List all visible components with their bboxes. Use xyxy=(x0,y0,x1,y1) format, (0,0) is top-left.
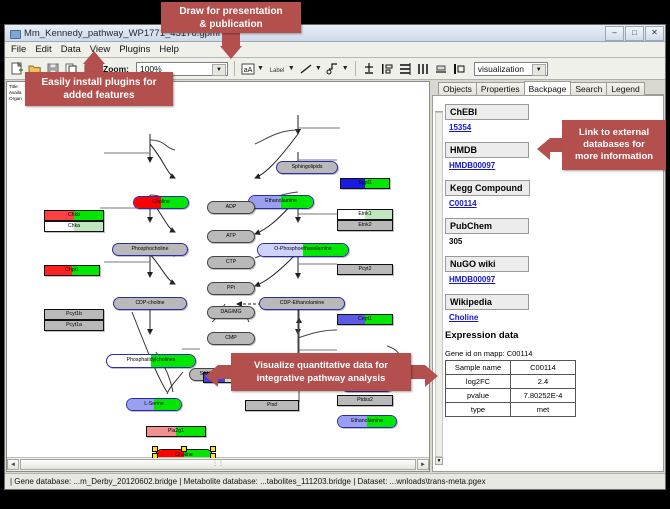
metabolite-node-l-serine[interactable]: L-Serine xyxy=(126,398,182,411)
label-icon[interactable]: Label xyxy=(268,62,286,76)
gene-id-label: Gene id on mapp: C00114 xyxy=(445,349,663,358)
gene-node-pla2g1[interactable]: Pla2g1 xyxy=(146,426,206,437)
db-title: NuGO wiki xyxy=(445,256,529,272)
metabolite-node-o-phosphoethanolamine[interactable]: O-Phosphoethanolamine xyxy=(257,243,349,257)
node-label: Chpt1 xyxy=(65,268,79,273)
node-label: O-Phosphoethanolamine xyxy=(274,247,331,252)
tab-objects[interactable]: Objects xyxy=(438,82,477,95)
row-value: 7.80252E-4 xyxy=(511,389,576,403)
panel-scroll-down-button[interactable]: ▼ xyxy=(435,457,443,465)
expression-data-heading: Expression data xyxy=(445,330,663,341)
callout-line-2: integrative pathway analysis xyxy=(257,372,386,385)
distribute-icon[interactable] xyxy=(398,62,412,76)
node-label: Phosphatidylcholines xyxy=(127,358,176,363)
row-value: C00114 xyxy=(511,361,576,375)
screenshot-root: Mm_Kennedy_pathway_WP1771_45176.gpml – □… xyxy=(0,0,670,509)
tab-properties[interactable]: Properties xyxy=(476,82,525,95)
callout-line-1: Visualize quantitative data for xyxy=(254,359,388,372)
menu-item-edit[interactable]: Edit xyxy=(35,44,51,55)
gene-node-chpt1[interactable]: Chpt1 xyxy=(44,265,100,276)
gene-node-pisd[interactable]: Pisd xyxy=(245,400,299,411)
gene-node-ptdss2[interactable]: Ptdss2 xyxy=(337,395,393,406)
align-left-icon[interactable] xyxy=(380,62,394,76)
tab-filler xyxy=(644,81,664,95)
gene-node-chkb[interactable]: Chkb xyxy=(44,210,104,221)
row-label: pvalue xyxy=(446,389,511,403)
app-icon xyxy=(9,28,20,39)
db-title: Kegg Compound xyxy=(445,180,530,196)
callout-visualize-stem-right xyxy=(411,365,425,379)
metabolite-node-ethanolamine[interactable]: Ethanolamine xyxy=(337,415,397,428)
node-label: Sgpl1 xyxy=(358,181,371,186)
row-label: Sample name xyxy=(446,361,511,375)
scroll-left-button[interactable]: ◄ xyxy=(7,459,19,470)
metabolite-node[interactable]: Phosphocholine xyxy=(112,243,188,256)
node-label: CDP-Ethanolamine xyxy=(280,301,324,306)
group-icon[interactable] xyxy=(434,62,448,76)
align-icon[interactable] xyxy=(362,62,376,76)
window-controls: – □ ✕ xyxy=(605,26,665,41)
metabolite-node-choline[interactable]: Choline xyxy=(133,196,189,209)
node-label: Ethanolamine xyxy=(351,419,383,424)
svg-text:aA: aA xyxy=(244,67,253,74)
title-bar: Mm_Kennedy_pathway_WP1771_45176.gpml – □… xyxy=(5,25,665,42)
node-label: Ethanolamine xyxy=(265,199,297,204)
node-label: Pcyt1a xyxy=(66,323,82,328)
tab-search[interactable]: Search xyxy=(570,82,607,95)
row-value: 2.4 xyxy=(511,375,576,389)
node-label: Pla2g1 xyxy=(168,429,184,434)
db-value: 305 xyxy=(449,237,663,246)
scroll-right-button[interactable]: ► xyxy=(417,459,429,470)
resize-handle[interactable] xyxy=(210,453,216,458)
callout-line-2: & publication xyxy=(199,18,262,31)
tab-legend[interactable]: Legend xyxy=(606,82,644,95)
node-label: CMP xyxy=(225,336,237,341)
gene-node-sgpl1[interactable]: Sgpl1 xyxy=(340,178,390,189)
callout-line-2: added features xyxy=(63,89,134,102)
callout-visualize-arrow-right-icon xyxy=(425,365,438,387)
chevron-down-icon[interactable]: ▼ xyxy=(288,65,295,72)
db-link[interactable]: Choline xyxy=(449,313,663,322)
node-label: Phosphocholine xyxy=(132,247,169,252)
visualization-value: visualization xyxy=(478,64,524,74)
label-text: Label xyxy=(270,68,285,74)
menu-item-plugins[interactable]: Plugins xyxy=(119,44,150,55)
node-label: Pcyt2 xyxy=(359,267,372,272)
table-row: type met xyxy=(446,403,576,417)
callout-draw: Draw for presentation & publication xyxy=(161,2,301,33)
canvas-horizontal-scrollbar[interactable]: ◄ ⋮⋮ ► xyxy=(7,457,429,471)
node-label: CDP-choline xyxy=(135,301,164,306)
metabolite-node[interactable]: ADP xyxy=(207,201,255,214)
db-section-nugo: NuGO wiki HMDB00097 xyxy=(445,254,663,284)
node-label: Choline xyxy=(175,453,193,458)
callout-line-3: more information xyxy=(575,151,653,163)
pathway-canvas-panel: Title: Availa Organ xyxy=(6,81,430,472)
gene-node-chka[interactable]: Chka xyxy=(44,221,104,232)
node-label: Pisd xyxy=(267,403,277,408)
db-link[interactable]: HMDB00097 xyxy=(449,275,663,284)
callout-links: Link to external databases for more info… xyxy=(562,120,666,170)
node-label: L-Serine xyxy=(144,402,164,407)
callout-plugins: Easily install plugins for added feature… xyxy=(25,72,173,106)
visualization-combo[interactable]: visualization ▼ xyxy=(474,62,548,76)
tab-backpage[interactable]: Backpage xyxy=(524,81,572,95)
status-text: | Gene database: ...m_Derby_20120602.bri… xyxy=(10,477,486,486)
chevron-down-icon[interactable]: ▼ xyxy=(315,65,322,72)
metabolite-node[interactable]: ATP xyxy=(207,230,255,243)
db-link[interactable]: C00114 xyxy=(449,199,663,208)
db-title: PubChem xyxy=(445,218,529,234)
panel-scroll-track[interactable] xyxy=(435,112,443,457)
new-file-icon[interactable] xyxy=(10,62,24,76)
maximize-button[interactable]: □ xyxy=(625,26,644,41)
node-label: Pcyt1b xyxy=(66,312,82,317)
metabolite-node-phosphatidylcholines[interactable]: Phosphatidylcholines xyxy=(106,354,196,368)
chevron-down-icon[interactable]: ▼ xyxy=(342,65,349,72)
node-label: Chka xyxy=(68,224,80,229)
resize-handle[interactable] xyxy=(152,446,158,452)
node-label: PPi xyxy=(227,286,235,291)
callout-line-1: Draw for presentation xyxy=(179,5,282,18)
chevron-down-icon[interactable]: ▼ xyxy=(532,64,546,76)
callout-draw-arrow-icon xyxy=(220,46,242,59)
callout-visualize-arrow-icon xyxy=(205,365,218,387)
pathway-canvas[interactable]: Title: Availa Organ xyxy=(7,82,429,458)
callout-line-1: Easily install plugins for xyxy=(41,76,156,89)
row-value: met xyxy=(511,403,576,417)
menu-item-file[interactable]: File xyxy=(11,44,26,55)
gene-node-etnk2[interactable]: Etnk2 xyxy=(337,220,393,231)
resize-handle[interactable] xyxy=(152,453,158,458)
callout-line-1: Link to external xyxy=(579,127,649,139)
row-label: type xyxy=(446,403,511,417)
node-label: DAG/MG xyxy=(220,310,241,315)
menu-item-data[interactable]: Data xyxy=(61,44,81,55)
toolbar-separator xyxy=(234,61,235,76)
close-button[interactable]: ✕ xyxy=(645,26,664,41)
toolbar-separator xyxy=(355,61,356,76)
callout-plugins-arrow-icon xyxy=(83,51,105,64)
node-label: Chkb xyxy=(68,213,80,218)
line-icon[interactable] xyxy=(299,62,313,76)
chevron-down-icon[interactable]: ▼ xyxy=(257,65,264,72)
stack-icon[interactable] xyxy=(416,62,430,76)
node-label: Etnk1 xyxy=(358,212,371,217)
table-row: pvalue 7.80252E-4 xyxy=(446,389,576,403)
callout-links-arrow-icon xyxy=(537,138,550,160)
db-section-pubchem: PubChem 305 xyxy=(445,216,663,246)
connector-icon[interactable] xyxy=(326,62,340,76)
minimize-button[interactable]: – xyxy=(605,26,624,41)
db-title: HMDB xyxy=(445,142,529,158)
table-row: Sample name C00114 xyxy=(446,361,576,375)
chevron-down-icon[interactable]: ▼ xyxy=(212,64,226,76)
metabolite-node[interactable]: PPi xyxy=(207,282,255,295)
db-section-wikipedia: Wikipedia Choline xyxy=(445,292,663,322)
table-row: log2FC 2.4 xyxy=(446,375,576,389)
callout-line-2: databases for xyxy=(583,139,645,151)
expression-table: Sample name C00114 log2FC 2.4 pvalue 7.8… xyxy=(445,360,576,417)
metabolite-node[interactable]: DAG/MG xyxy=(207,306,255,319)
resize-handle[interactable] xyxy=(210,446,216,452)
gene-node-pcyt1a[interactable]: Pcyt1a xyxy=(44,320,104,331)
callout-visualize: Visualize quantitative data for integrat… xyxy=(231,353,411,391)
scroll-thumb[interactable]: ⋮⋮ xyxy=(20,459,416,470)
status-bar: | Gene database: ...m_Derby_20120602.bri… xyxy=(5,473,665,489)
gene-node-cept1[interactable]: Cept1 xyxy=(337,314,393,325)
node-label: CTP xyxy=(226,260,236,265)
menu-item-help[interactable]: Help xyxy=(159,44,179,55)
node-label: ADP xyxy=(226,205,237,210)
metabolite-node[interactable]: CTP xyxy=(207,256,255,269)
db-section-kegg: Kegg Compound C00114 xyxy=(445,178,663,208)
font-icon[interactable]: aA xyxy=(241,62,255,76)
resize-handle[interactable] xyxy=(181,446,187,452)
db-title: Wikipedia xyxy=(445,294,529,310)
metabolite-node[interactable]: CMP xyxy=(207,332,255,345)
metabolite-node[interactable]: Sphingolipids xyxy=(276,161,338,174)
callout-visualize-stem xyxy=(218,365,232,379)
row-label: log2FC xyxy=(446,375,511,389)
node-label: ATP xyxy=(226,234,236,239)
metabolite-node[interactable]: CDP-Ethanolamine xyxy=(259,297,345,310)
node-label: Choline xyxy=(152,200,170,205)
db-title: ChEBI xyxy=(445,104,529,120)
gene-node-etnk1[interactable]: Etnk1 xyxy=(337,209,393,220)
node-label: Ptdss2 xyxy=(357,398,373,403)
node-label: Etnk2 xyxy=(358,223,371,228)
gene-node-pcyt1b[interactable]: Pcyt1b xyxy=(44,309,104,320)
callout-draw-stem xyxy=(222,33,240,47)
side-panel-tabs: Objects Properties Backpage Search Legen… xyxy=(432,81,664,95)
metabolite-node[interactable]: CDP-choline xyxy=(113,297,187,310)
metabolite-node-ethanolamine[interactable]: Ethanolamine xyxy=(248,195,314,209)
node-label: Sphingolipids xyxy=(292,165,323,170)
node-label: Cept1 xyxy=(358,317,372,322)
gene-node-pcyt2[interactable]: Pcyt2 xyxy=(337,264,393,275)
order-icon[interactable] xyxy=(452,62,466,76)
